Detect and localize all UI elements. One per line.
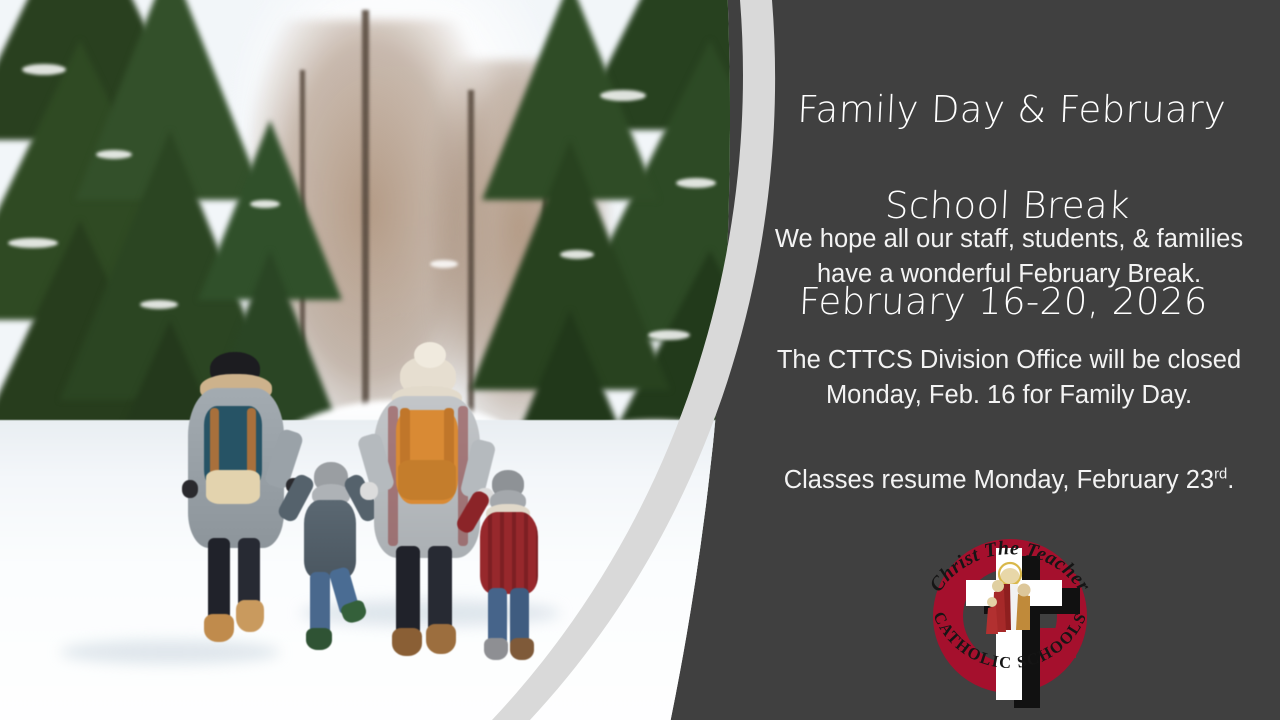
body-block: We hope all our staff, students, & famil…: [753, 222, 1265, 497]
leg: [208, 538, 230, 620]
paragraph-classes-resume: Classes resume Monday, February 23rd.: [753, 463, 1265, 498]
poster-canvas: Family Day & February School Break Febru…: [0, 0, 1280, 720]
snow-on-branch: [560, 250, 594, 259]
snow-on-branch: [22, 64, 66, 75]
boot: [510, 638, 534, 660]
leg: [310, 572, 330, 634]
figure-child-right: [470, 470, 548, 660]
cttcs-logo: Christ The Teacher CATHOLIC SCHOOLS: [910, 512, 1110, 717]
ordinal-suffix: rd: [1214, 466, 1227, 482]
boot: [426, 624, 456, 654]
paragraph-office-closure: The CTTCS Division Office will be closed…: [753, 343, 1265, 412]
snow-on-branch: [8, 238, 58, 248]
mitten: [360, 482, 378, 500]
backpack-flap: [398, 460, 456, 500]
headline-line-1: Family Day & February: [738, 86, 1280, 134]
snow-on-branch: [96, 150, 132, 159]
boot: [306, 628, 332, 650]
backpack-pocket: [206, 470, 260, 504]
snow-on-branch: [600, 90, 646, 101]
boot: [392, 628, 422, 656]
cttcs-logo-svg: Christ The Teacher CATHOLIC SCHOOLS: [910, 512, 1110, 717]
paragraph-wellwishes: We hope all our staff, students, & famil…: [753, 222, 1265, 291]
snow-on-branch: [430, 260, 458, 268]
leg: [428, 546, 452, 632]
boot: [236, 600, 264, 632]
photo-panel: [0, 0, 760, 720]
snow-on-branch: [648, 330, 690, 340]
sentence-period: .: [1227, 466, 1234, 494]
mitten: [182, 480, 198, 498]
boot: [204, 614, 234, 642]
leg: [396, 546, 420, 636]
coat: [304, 500, 356, 578]
hat-pompom: [414, 342, 446, 368]
boot: [484, 638, 508, 660]
winter-forest-photo: [0, 0, 760, 720]
snow-on-branch: [676, 178, 716, 188]
snow-on-branch: [140, 300, 178, 309]
plaid-coat: [480, 512, 538, 594]
snow-on-branch: [250, 200, 280, 208]
classes-resume-text: Classes resume Monday, February 23: [784, 466, 1214, 494]
